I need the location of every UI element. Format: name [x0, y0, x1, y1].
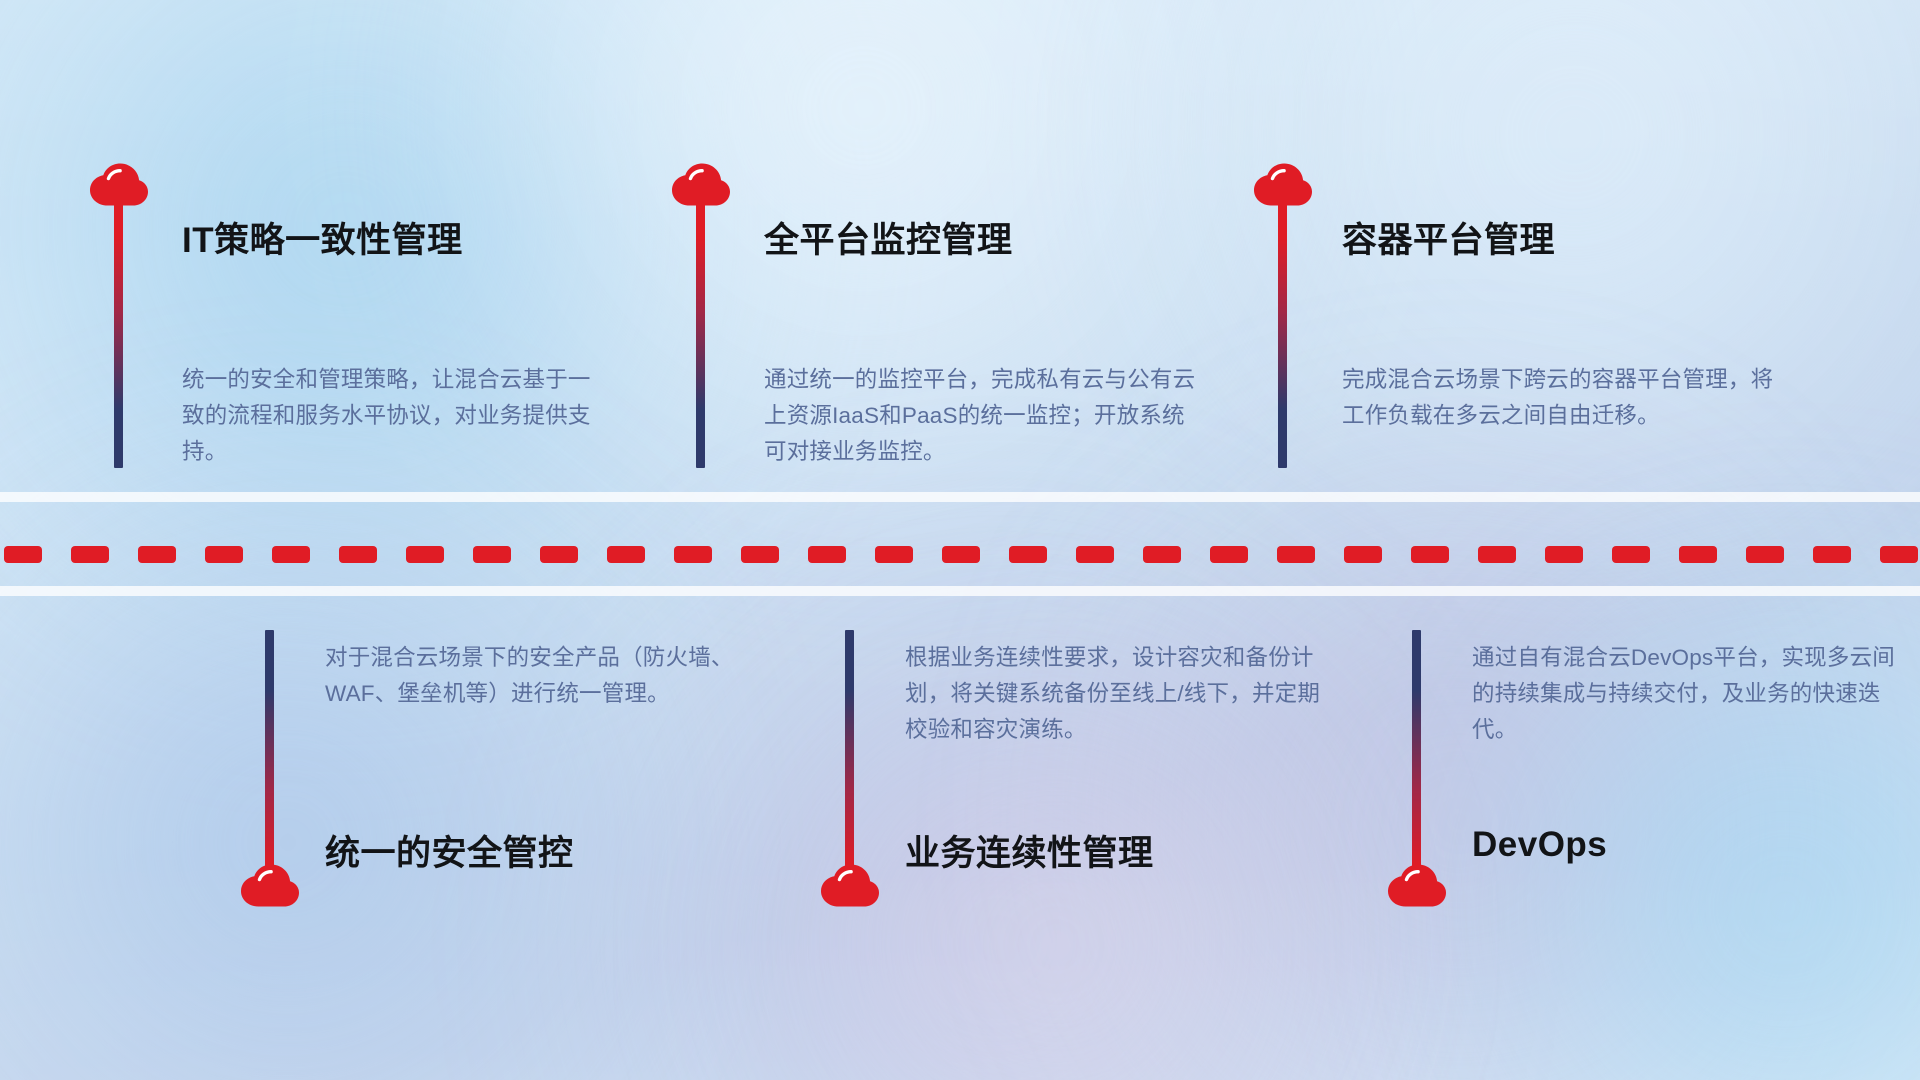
road-dash-segment [1009, 546, 1047, 563]
road-dash-segment [473, 546, 511, 563]
road-dash-segment [741, 546, 779, 563]
road-dash-segment [272, 546, 310, 563]
road-dashed-center-line [0, 546, 1920, 563]
road-edge-line-top [0, 492, 1920, 502]
road-dash-segment [1210, 546, 1248, 563]
road-dash-segment [1545, 546, 1583, 563]
road-dash-segment [674, 546, 712, 563]
road-dash-segment [1344, 546, 1382, 563]
road-dash-segment [1746, 546, 1784, 563]
cloud-pin-icon [88, 160, 150, 208]
road-dash-segment [942, 546, 980, 563]
feature-description: 对于混合云场景下的安全产品（防火墙、WAF、堡垒机等）进行统一管理。 [325, 640, 745, 712]
road-edge-line-bottom [0, 586, 1920, 596]
road-dash-segment [875, 546, 913, 563]
cloud-pin-icon [819, 861, 881, 909]
feature-title: IT策略一致性管理 [182, 212, 463, 263]
road-dash-segment [1143, 546, 1181, 563]
road-dash-segment [540, 546, 578, 563]
background [0, 0, 1920, 1080]
marker-stem [114, 200, 123, 468]
feature-title: 全平台监控管理 [764, 212, 1013, 263]
feature-title: DevOps [1472, 825, 1607, 865]
road-dash-segment [607, 546, 645, 563]
background-vignette [0, 0, 1920, 1080]
road-dash-segment [1277, 546, 1315, 563]
cloud-pin-icon [670, 160, 732, 208]
road-dash-segment [1612, 546, 1650, 563]
feature-description: 通过统一的监控平台，完成私有云与公有云上资源IaaS和PaaS的统一监控；开放系… [764, 362, 1204, 470]
feature-description: 完成混合云场景下跨云的容器平台管理，将工作负载在多云之间自由迁移。 [1342, 362, 1782, 434]
marker-stem [1278, 200, 1287, 468]
road-dash-segment [1411, 546, 1449, 563]
road-dash-segment [1880, 546, 1918, 563]
road-dash-segment [1813, 546, 1851, 563]
feature-title: 容器平台管理 [1342, 212, 1555, 263]
feature-title: 统一的安全管控 [325, 825, 574, 876]
road-dash-segment [339, 546, 377, 563]
feature-title: 业务连续性管理 [905, 825, 1154, 876]
road-dash-segment [138, 546, 176, 563]
road-dash-segment [1679, 546, 1717, 563]
road-dash-segment [1478, 546, 1516, 563]
cloud-pin-icon [1252, 160, 1314, 208]
road-dash-segment [808, 546, 846, 563]
road-dash-segment [71, 546, 109, 563]
road-dash-segment [4, 546, 42, 563]
cloud-pin-icon [1386, 861, 1448, 909]
marker-stem [696, 200, 705, 468]
feature-description: 统一的安全和管理策略，让混合云基于一致的流程和服务水平协议，对业务提供支持。 [182, 362, 602, 470]
road-dash-segment [406, 546, 444, 563]
cloud-pin-icon [239, 861, 301, 909]
road-dash-segment [205, 546, 243, 563]
feature-description: 根据业务连续性要求，设计容灾和备份计划，将关键系统备份至线上/线下，并定期校验和… [905, 640, 1325, 748]
road-dash-segment [1076, 546, 1114, 563]
feature-description: 通过自有混合云DevOps平台，实现多云间的持续集成与持续交付，及业务的快速迭代… [1472, 640, 1912, 748]
